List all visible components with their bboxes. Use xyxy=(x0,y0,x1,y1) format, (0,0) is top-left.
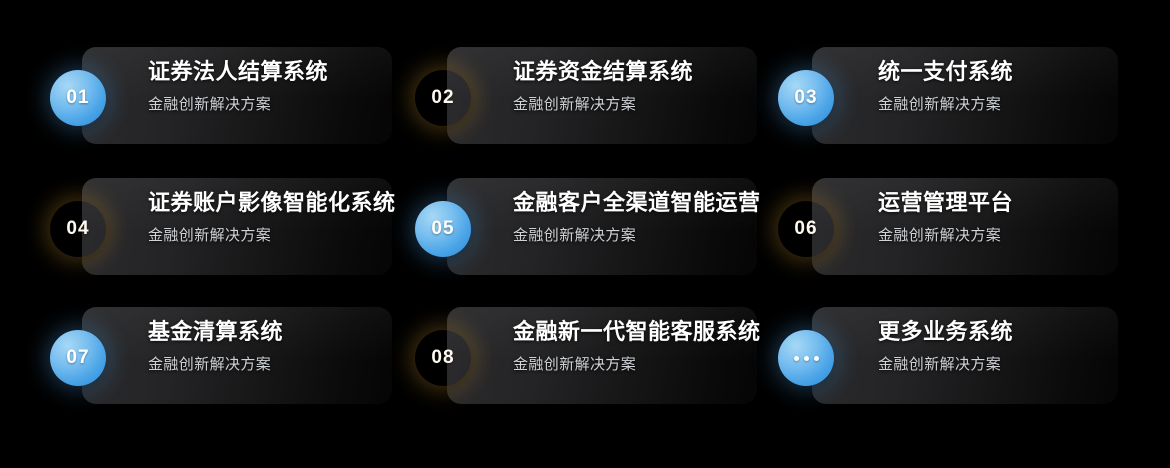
card-text-group: 证券法人结算系统 金融创新解决方案 xyxy=(148,57,378,116)
card-number-badge[interactable]: 03 xyxy=(778,70,834,126)
card-text-group: 证券账户影像智能化系统 金融创新解决方案 xyxy=(148,188,378,247)
card-number: 08 xyxy=(431,347,454,369)
card-subtitle: 金融创新解决方案 xyxy=(878,225,1104,247)
card-subtitle: 金融创新解决方案 xyxy=(878,354,1104,376)
system-card[interactable]: 运营管理平台 金融创新解决方案 xyxy=(812,178,1118,275)
card-subtitle: 金融创新解决方案 xyxy=(148,94,378,116)
card-text-group: 运营管理平台 金融创新解决方案 xyxy=(878,188,1104,247)
card-number: 03 xyxy=(794,87,817,109)
card-text-group: 金融客户全渠道智能运营 金融创新解决方案 xyxy=(513,188,743,247)
card-number-badge[interactable]: 07 xyxy=(50,330,106,386)
system-card[interactable]: 金融客户全渠道智能运营 金融创新解决方案 xyxy=(447,178,757,275)
card-subtitle: 金融创新解决方案 xyxy=(513,354,743,376)
card-title: 基金清算系统 xyxy=(148,317,378,347)
slide-canvas: 证券法人结算系统 金融创新解决方案 01 证券资金结算系统 金融创新解决方案 0… xyxy=(0,0,1170,468)
card-number-badge[interactable]: 02 xyxy=(415,70,471,126)
system-card[interactable]: 证券账户影像智能化系统 金融创新解决方案 xyxy=(82,178,392,275)
card-text-group: 金融新一代智能客服系统 金融创新解决方案 xyxy=(513,317,743,376)
system-card[interactable]: 统一支付系统 金融创新解决方案 xyxy=(812,47,1118,144)
card-number-badge[interactable]: 04 xyxy=(50,201,106,257)
card-subtitle: 金融创新解决方案 xyxy=(148,354,378,376)
card-number-badge[interactable] xyxy=(778,330,834,386)
card-subtitle: 金融创新解决方案 xyxy=(148,225,378,247)
system-card[interactable]: 证券法人结算系统 金融创新解决方案 xyxy=(82,47,392,144)
card-title: 统一支付系统 xyxy=(878,57,1104,87)
system-card[interactable]: 金融新一代智能客服系统 金融创新解决方案 xyxy=(447,307,757,404)
card-text-group: 基金清算系统 金融创新解决方案 xyxy=(148,317,378,376)
card-number: 01 xyxy=(66,87,89,109)
card-title: 证券资金结算系统 xyxy=(513,57,743,87)
card-number: 05 xyxy=(431,218,454,240)
card-subtitle: 金融创新解决方案 xyxy=(878,94,1104,116)
ellipsis-icon xyxy=(794,356,819,361)
system-card[interactable]: 基金清算系统 金融创新解决方案 xyxy=(82,307,392,404)
card-text-group: 统一支付系统 金融创新解决方案 xyxy=(878,57,1104,116)
card-number: 04 xyxy=(66,218,89,240)
card-title: 证券账户影像智能化系统 xyxy=(148,188,378,218)
card-number-badge[interactable]: 01 xyxy=(50,70,106,126)
card-number-badge[interactable]: 06 xyxy=(778,201,834,257)
card-title: 更多业务系统 xyxy=(878,317,1104,347)
card-subtitle: 金融创新解决方案 xyxy=(513,225,743,247)
card-number: 07 xyxy=(66,347,89,369)
card-title: 金融客户全渠道智能运营 xyxy=(513,188,743,218)
card-number: 06 xyxy=(794,218,817,240)
card-subtitle: 金融创新解决方案 xyxy=(513,94,743,116)
system-card[interactable]: 证券资金结算系统 金融创新解决方案 xyxy=(447,47,757,144)
system-card[interactable]: 更多业务系统 金融创新解决方案 xyxy=(812,307,1118,404)
card-number-badge[interactable]: 05 xyxy=(415,201,471,257)
card-title: 证券法人结算系统 xyxy=(148,57,378,87)
card-title: 运营管理平台 xyxy=(878,188,1104,218)
card-text-group: 更多业务系统 金融创新解决方案 xyxy=(878,317,1104,376)
card-number: 02 xyxy=(431,87,454,109)
card-number-badge[interactable]: 08 xyxy=(415,330,471,386)
card-text-group: 证券资金结算系统 金融创新解决方案 xyxy=(513,57,743,116)
card-title: 金融新一代智能客服系统 xyxy=(513,317,743,347)
